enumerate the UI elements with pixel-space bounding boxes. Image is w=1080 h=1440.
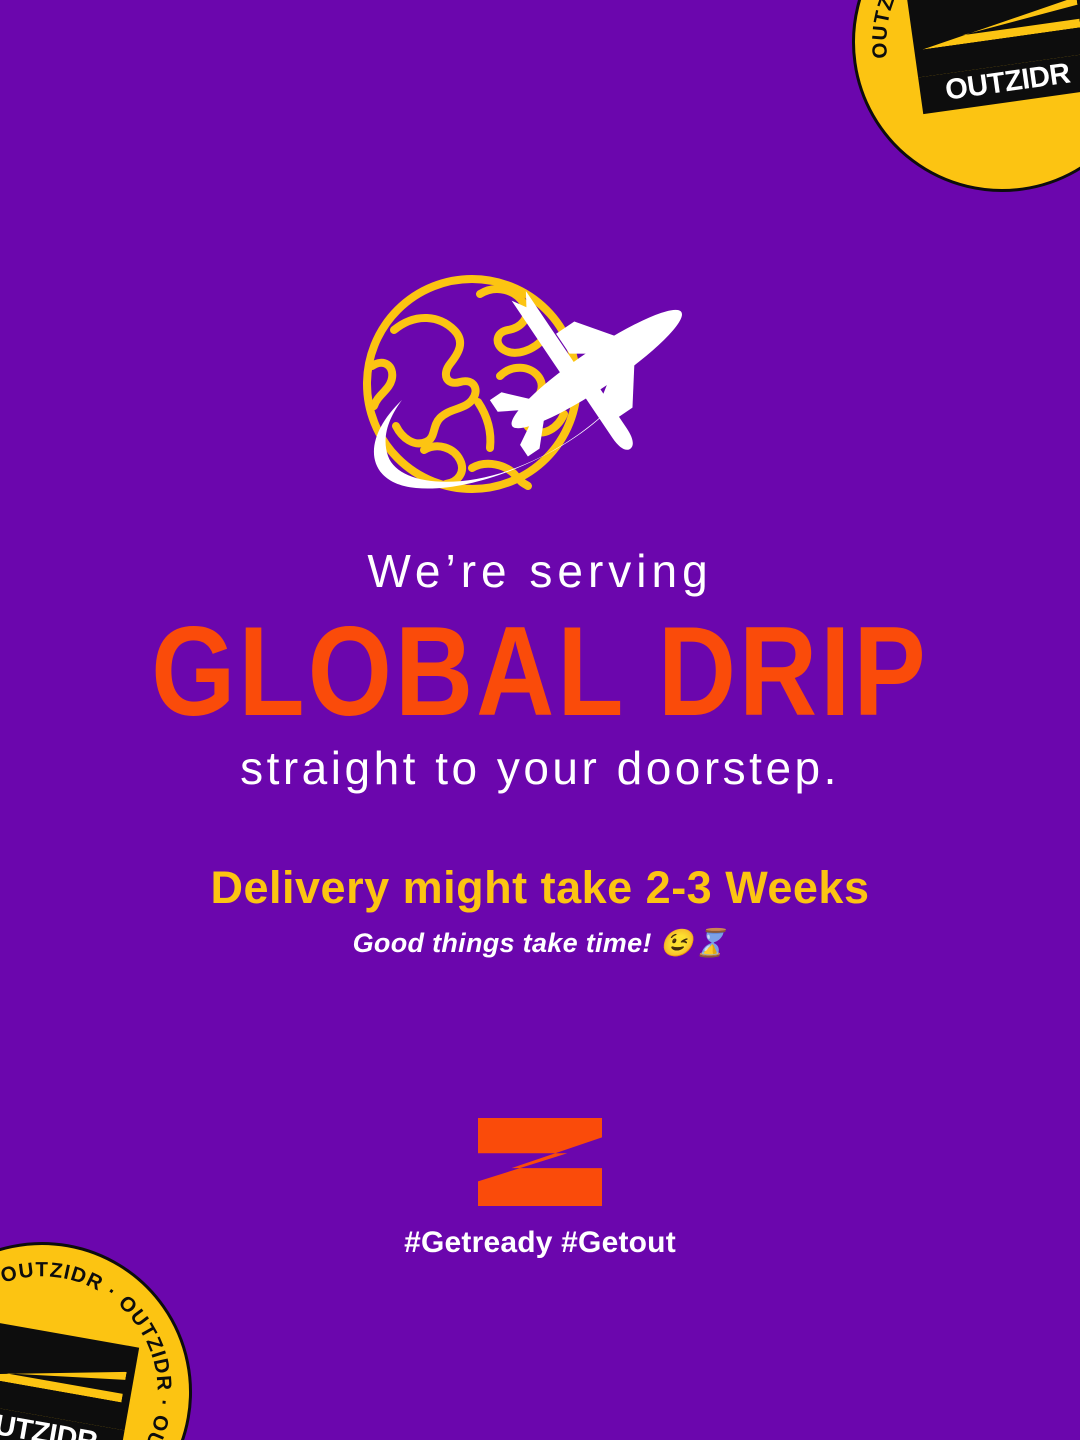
tagline-line-3: straight to your doorstep. (0, 743, 1080, 794)
tagline-line-1: We’re serving (0, 546, 1080, 597)
brand-badge-top-right: OUTZIDR · OUTZIDR · OUTZIDR · OUTZIDR · … (833, 0, 1080, 211)
hashtags: #Getready #Getout (0, 1226, 1080, 1260)
outzidr-z-logo-icon (478, 1118, 602, 1206)
delivery-subnote: Good things take time! 😉⌛ (0, 929, 1080, 959)
delivery-notice: Delivery might take 2-3 Weeks (0, 863, 1080, 913)
footer-block: #Getready #Getout (0, 1118, 1080, 1260)
headline: GLOBAL DRIP (0, 609, 1080, 736)
promo-text-block: We’re serving GLOBAL DRIP straight to yo… (0, 546, 1080, 958)
globe-with-airplane-icon (354, 272, 726, 510)
